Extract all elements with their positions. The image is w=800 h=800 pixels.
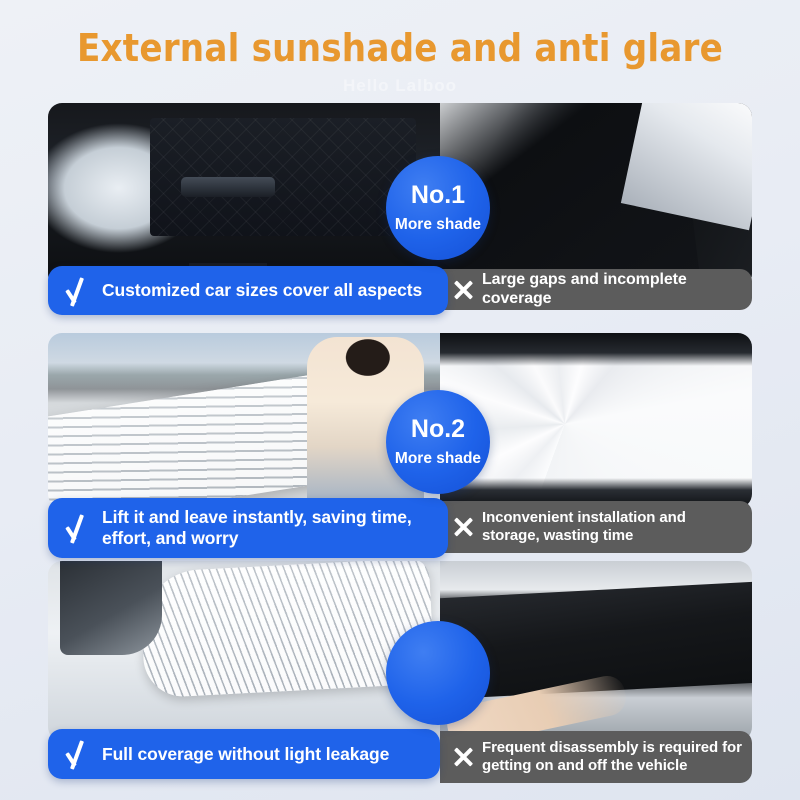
caption-good-2: Lift it and leave instantly, saving time… [48, 498, 448, 558]
product-photo-bad-3 [440, 561, 752, 741]
comparison-row-2: Inconvenient installation and storage, w… [0, 333, 800, 558]
caption-bad-3: Frequent disassembly is required for get… [440, 731, 752, 783]
caption-good-text-1: Customized car sizes cover all aspects [102, 280, 422, 301]
caption-bad-1: Large gaps and incomplete coverage [440, 269, 752, 310]
caption-bad-text-2: Inconvenient installation and storage, w… [482, 509, 742, 544]
rank-badge-number-1: No.1 [411, 183, 465, 208]
check-icon [64, 275, 94, 307]
rank-badge-2: No.2 More shade [386, 390, 490, 494]
rank-badge-1: No.1 More shade [386, 156, 490, 260]
comparison-row-3: Frequent disassembly is required for get… [0, 561, 800, 789]
product-photo-bad-2 [440, 333, 752, 508]
product-photo-good-1 [48, 103, 440, 288]
caption-bad-text-1: Large gaps and incomplete coverage [482, 271, 742, 309]
check-icon [64, 512, 94, 544]
rank-badge-subtitle-1: More shade [395, 217, 481, 233]
caption-good-text-3: Full coverage without light leakage [102, 744, 389, 765]
caption-good-text-2: Lift it and leave instantly, saving time… [102, 507, 438, 548]
rank-badge-3 [386, 621, 490, 725]
caption-good-3: Full coverage without light leakage [48, 729, 440, 779]
cross-icon [450, 277, 476, 303]
caption-bad-2: Inconvenient installation and storage, w… [440, 501, 752, 553]
check-icon [64, 738, 94, 770]
cross-icon [450, 514, 476, 540]
product-photo-good-2 [48, 333, 440, 508]
page-header: External sunshade and anti glare Hello L… [0, 0, 800, 100]
rank-badge-number-2: No.2 [411, 417, 465, 442]
caption-bad-text-3: Frequent disassembly is required for get… [482, 739, 742, 774]
comparison-row-1: Large gaps and incomplete coverage Custo… [0, 103, 800, 315]
brand-watermark: Hello Lalboo [0, 76, 800, 96]
cross-icon [450, 744, 476, 770]
caption-good-1: Customized car sizes cover all aspects [48, 266, 448, 315]
page-title: External sunshade and anti glare [0, 26, 800, 70]
rank-badge-subtitle-2: More shade [395, 451, 481, 467]
product-photo-good-3 [48, 561, 440, 741]
